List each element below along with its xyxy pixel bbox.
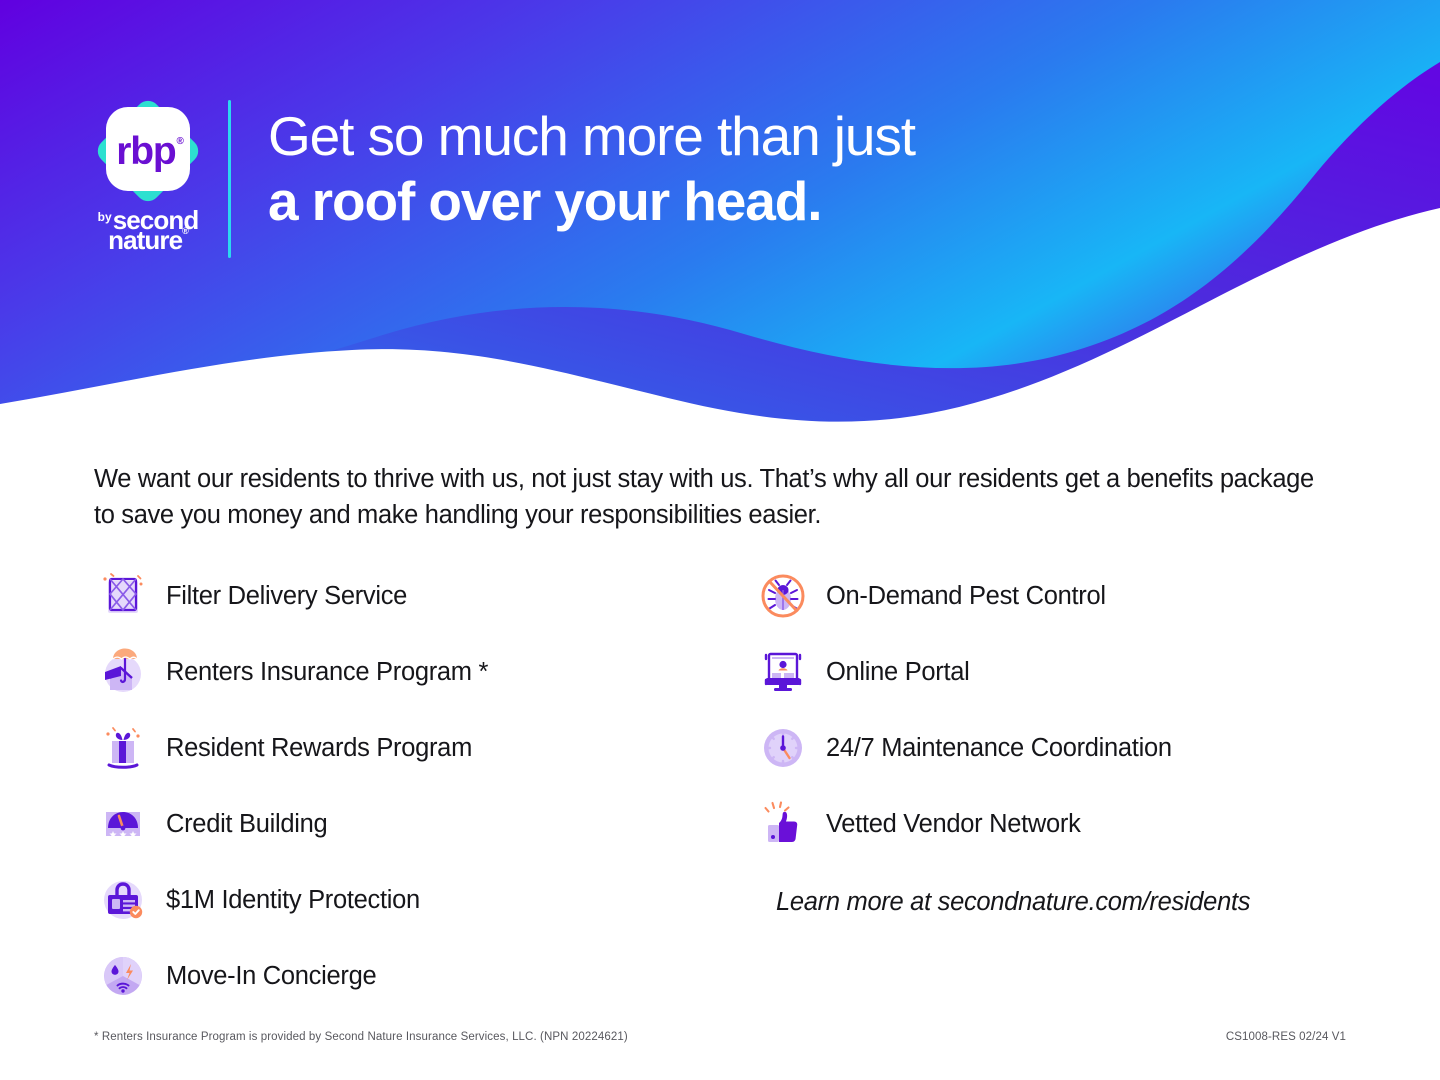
flyer-page: rbp® bysecond nature® Get so much more t… bbox=[0, 0, 1440, 1080]
learn-more-text: Learn more at secondnature.com/residents bbox=[776, 888, 1344, 917]
intro-paragraph: We want our residents to thrive with us,… bbox=[94, 461, 1324, 533]
benefits-right-column: On-Demand Pest Control bbox=[754, 558, 1344, 1014]
benefit-online-portal: Online Portal bbox=[754, 634, 1344, 710]
benefit-label: Filter Delivery Service bbox=[166, 582, 407, 611]
benefit-label: On-Demand Pest Control bbox=[826, 582, 1106, 611]
benefit-credit-building: Credit Building bbox=[94, 786, 754, 862]
clock-icon bbox=[754, 719, 812, 777]
hero-banner: rbp® bysecond nature® Get so much more t… bbox=[0, 0, 1440, 440]
benefits-section: Filter Delivery Service Renters Insuranc… bbox=[94, 558, 1344, 1014]
benefit-label: $1M Identity Protection bbox=[166, 886, 420, 915]
footer: * Renters Insurance Program is provided … bbox=[94, 1031, 1346, 1043]
footer-doc-code: CS1008-RES 02/24 V1 bbox=[1226, 1031, 1346, 1043]
no-bug-icon bbox=[754, 567, 812, 625]
logo-by-text: by bbox=[98, 212, 112, 223]
footer-disclaimer: * Renters Insurance Program is provided … bbox=[94, 1031, 628, 1043]
benefit-filter-delivery-service: Filter Delivery Service bbox=[94, 558, 754, 634]
benefit-label: Resident Rewards Program bbox=[166, 734, 472, 763]
hero-headline: Get so much more than just a roof over y… bbox=[268, 108, 915, 229]
headline-line-1: Get so much more than just bbox=[268, 108, 915, 164]
benefit-renters-insurance-program: Renters Insurance Program * bbox=[94, 634, 754, 710]
benefit-resident-rewards-program: Resident Rewards Program bbox=[94, 710, 754, 786]
benefit-identity-protection: $1M Identity Protection bbox=[94, 862, 754, 938]
desktop-monitor-icon bbox=[754, 643, 812, 701]
gift-box-icon bbox=[94, 719, 152, 777]
benefit-label: Renters Insurance Program * bbox=[166, 658, 488, 687]
credit-gauge-stars-icon bbox=[94, 795, 152, 853]
benefit-label: 24/7 Maintenance Coordination bbox=[826, 734, 1172, 763]
benefit-move-in-concierge: Move-In Concierge bbox=[94, 938, 754, 1014]
benefit-label: Vetted Vendor Network bbox=[826, 810, 1081, 839]
benefit-label: Move-In Concierge bbox=[166, 962, 376, 991]
utilities-pie-icon bbox=[94, 947, 152, 1005]
benefit-label: Online Portal bbox=[826, 658, 970, 687]
rbp-logo-mark: rbp® bbox=[93, 96, 203, 206]
id-badge-lock-icon bbox=[94, 871, 152, 929]
benefit-maintenance-coordination: 24/7 Maintenance Coordination bbox=[754, 710, 1344, 786]
air-filter-icon bbox=[94, 567, 152, 625]
hero-vertical-divider bbox=[228, 100, 231, 258]
thumbs-up-icon bbox=[754, 795, 812, 853]
benefit-label: Credit Building bbox=[166, 810, 327, 839]
logo-byline: bysecond nature® bbox=[78, 209, 218, 253]
umbrella-house-icon bbox=[94, 643, 152, 701]
benefit-pest-control: On-Demand Pest Control bbox=[754, 558, 1344, 634]
rbp-wordmark: rbp® bbox=[93, 96, 203, 206]
benefit-vetted-vendor-network: Vetted Vendor Network bbox=[754, 786, 1344, 862]
rbp-logo: rbp® bysecond nature® bbox=[78, 96, 218, 261]
headline-line-2: a roof over your head. bbox=[268, 173, 915, 229]
benefits-left-column: Filter Delivery Service Renters Insuranc… bbox=[94, 558, 754, 1014]
